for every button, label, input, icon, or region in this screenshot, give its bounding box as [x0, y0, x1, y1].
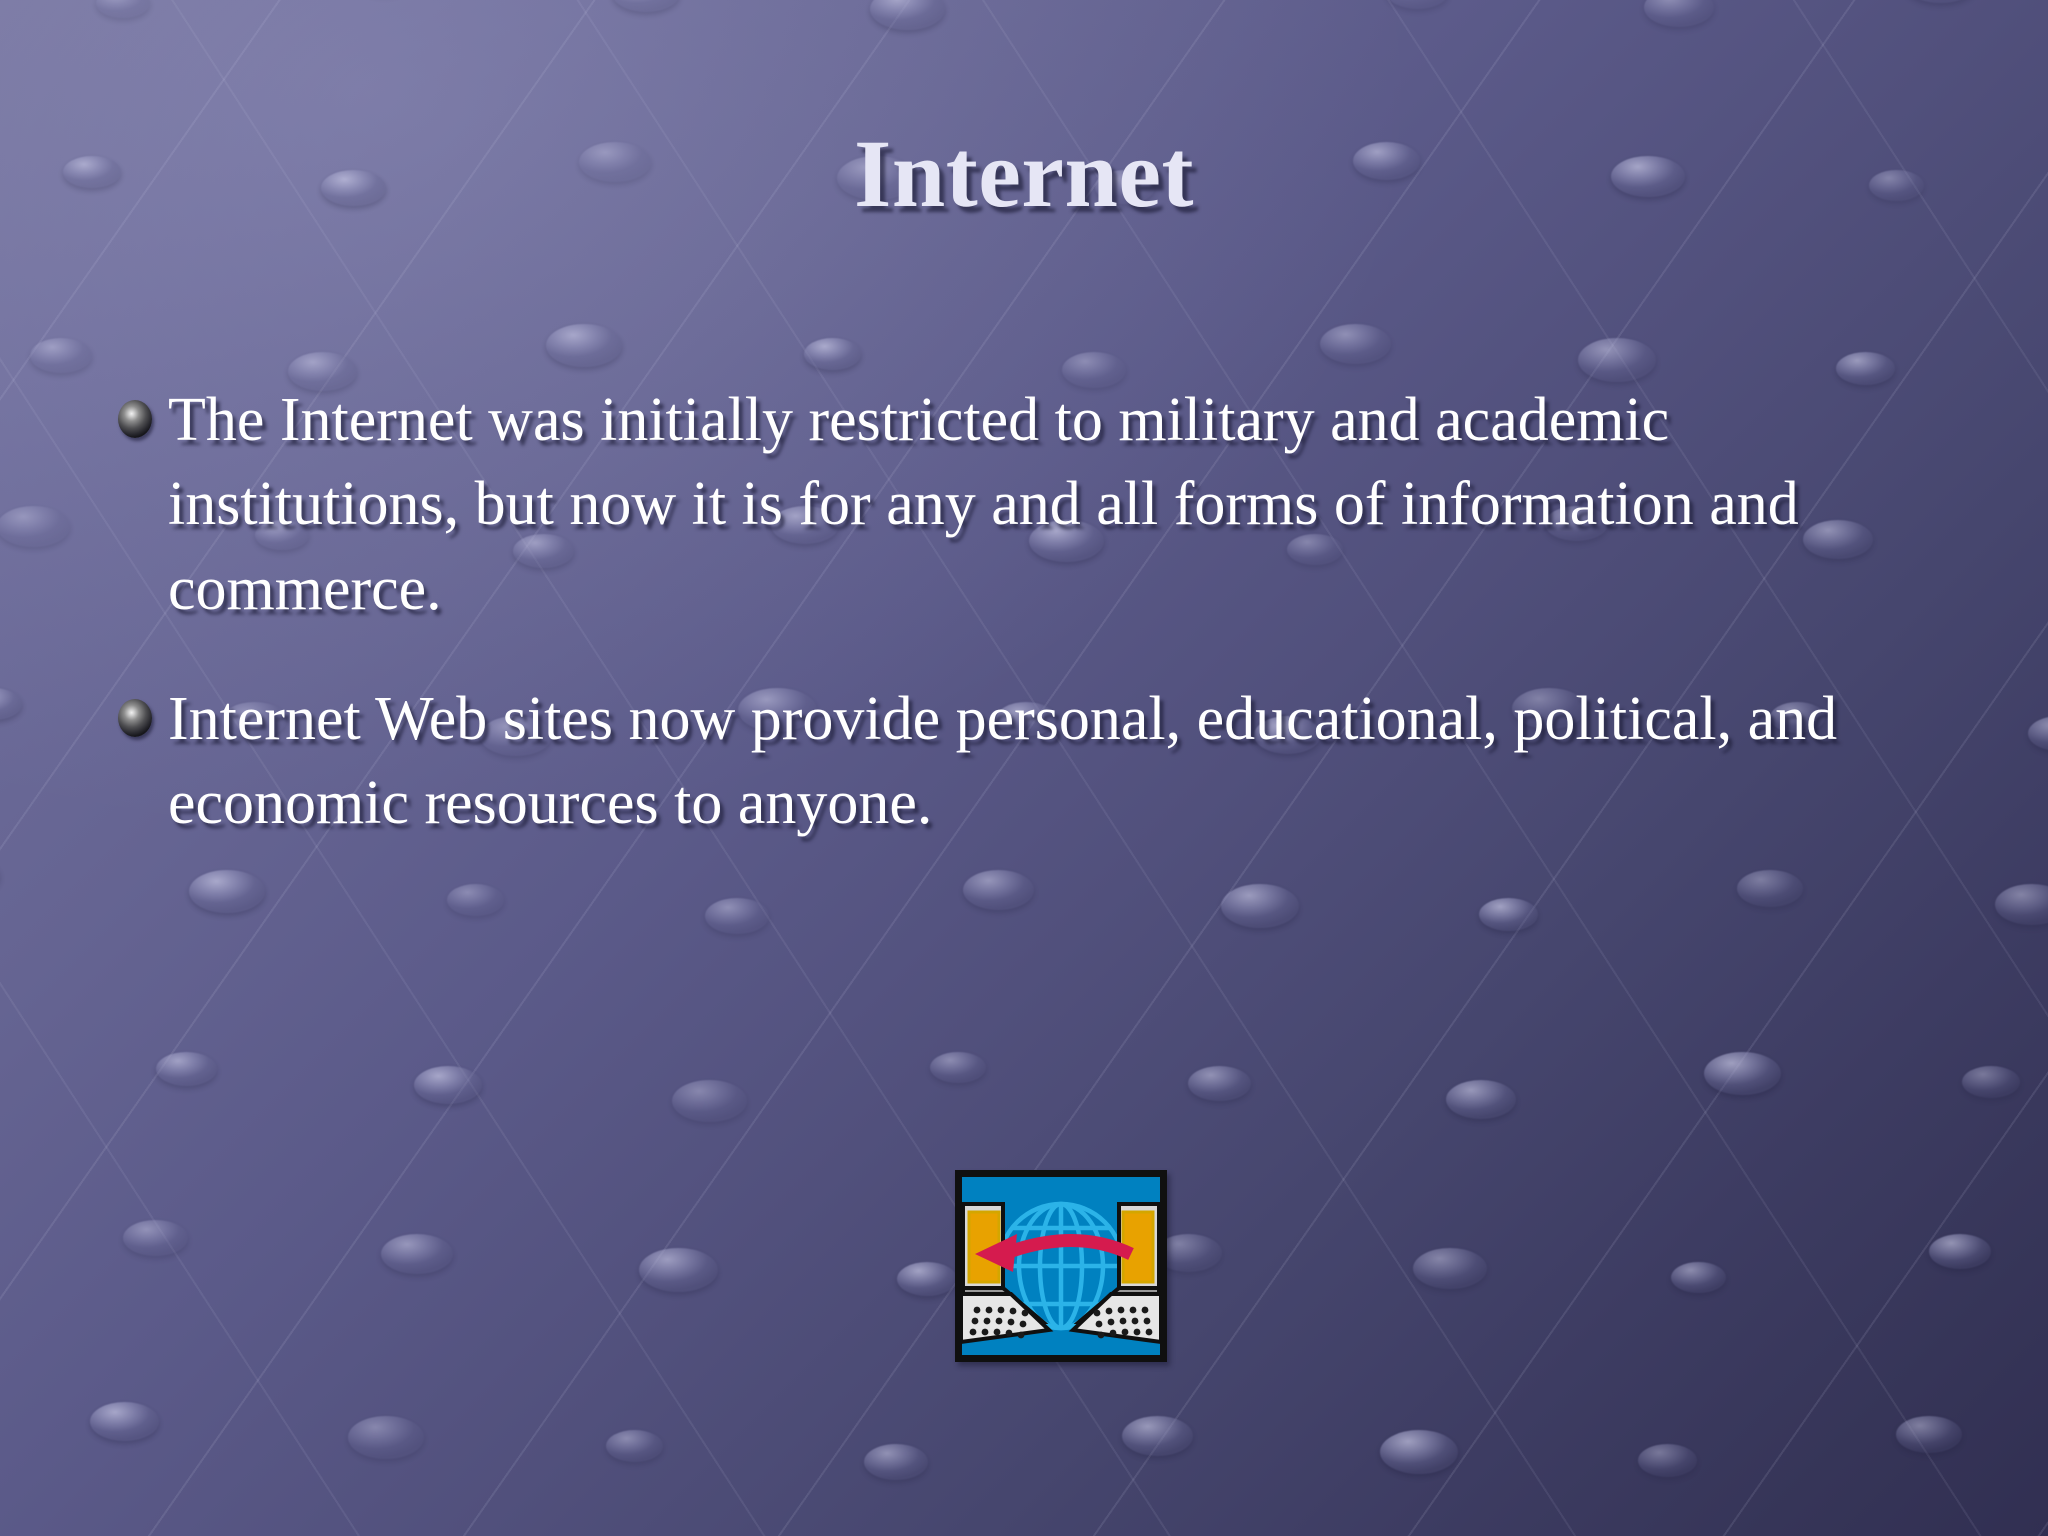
- bullet-text: The Internet was initially restricted to…: [168, 378, 1918, 631]
- background-bead: [864, 1444, 928, 1480]
- background-bead: [1122, 1416, 1193, 1456]
- background-bead: [123, 1220, 188, 1256]
- background-bead: [1413, 1248, 1487, 1289]
- two-laptops-globe-network-icon: [955, 1170, 1167, 1362]
- background-bead: [156, 1052, 217, 1086]
- background-bead: [0, 688, 22, 720]
- background-bead: [1644, 0, 1714, 27]
- clipart-container: [955, 1170, 1167, 1362]
- background-bead: [672, 1080, 747, 1122]
- background-bead: [804, 338, 861, 370]
- background-bead: [1188, 1066, 1251, 1101]
- background-bead: [90, 1402, 159, 1441]
- background-bead: [1704, 1052, 1781, 1095]
- background-bead: [1479, 898, 1538, 931]
- background-bead: [1671, 1262, 1726, 1293]
- background-bead: [2028, 716, 2048, 751]
- background-bead: [1386, 0, 1449, 9]
- background-bead: [1929, 1234, 1991, 1269]
- background-bead: [1380, 1430, 1458, 1474]
- background-bead: [96, 0, 150, 18]
- background-bead: [1962, 1066, 2020, 1098]
- background-bead: [930, 1052, 986, 1083]
- background-bead: [897, 1262, 957, 1296]
- background-bead: [546, 324, 622, 367]
- background-bead: [870, 0, 945, 30]
- background-bead: [612, 0, 680, 12]
- background-bead: [1320, 324, 1391, 364]
- background-bead: [348, 1416, 424, 1459]
- slide-title: Internet: [0, 118, 2048, 229]
- background-bead: [30, 338, 92, 373]
- background-bead: [1638, 1444, 1697, 1477]
- background-bead: [1446, 1080, 1516, 1119]
- background-bead: [1578, 338, 1656, 382]
- bullet-item: Internet Web sites now provide personal,…: [118, 677, 1918, 846]
- background-bead: [639, 1248, 718, 1292]
- background-bead: [705, 898, 769, 934]
- sphere-bullet-icon: [118, 400, 152, 438]
- bullet-text: Internet Web sites now provide personal,…: [168, 677, 1918, 846]
- background-bead: [1995, 884, 2048, 925]
- background-bead: [1896, 1416, 1962, 1453]
- background-bead: [0, 506, 70, 547]
- slide-body: The Internet was initially restricted to…: [118, 378, 1918, 892]
- background-bead: [381, 1234, 453, 1274]
- sphere-bullet-icon: [118, 699, 152, 737]
- background-bead: [1902, 0, 1979, 3]
- background-bead: [414, 1066, 482, 1104]
- presentation-slide: Internet The Internet was initially rest…: [0, 0, 2048, 1536]
- bullet-item: The Internet was initially restricted to…: [118, 378, 1918, 631]
- background-bead: [606, 1430, 663, 1462]
